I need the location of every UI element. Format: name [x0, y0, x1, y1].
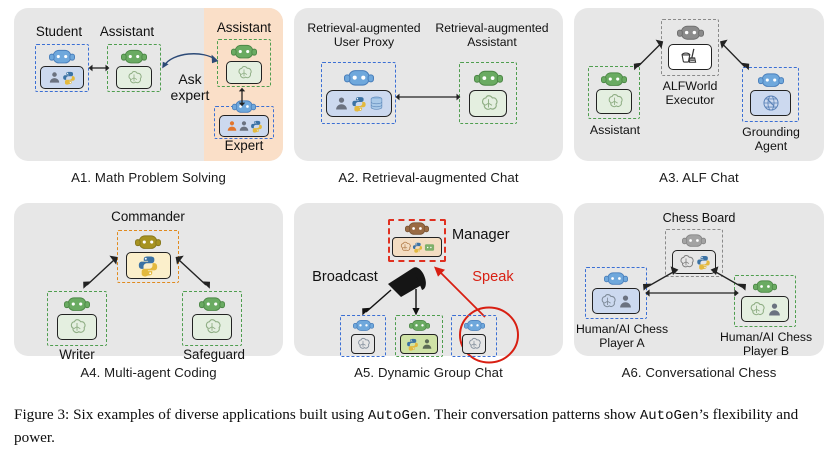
panel-a4: Commander Writer Safeguard A4. Multi-age…: [14, 203, 283, 385]
agent-member-c-selected: [451, 315, 497, 357]
arrow-assistant-executor: [631, 36, 667, 74]
label-alfworld-executor: ALFWorld Executor: [652, 80, 728, 108]
agent-card-player-b: [741, 296, 789, 322]
agent-expert-assistant: [217, 39, 271, 87]
agent-card-manager: [392, 237, 442, 257]
ask-expert-line2: expert: [171, 87, 210, 103]
agent-member-b: [395, 315, 443, 357]
figure-3: Student Assistant Assistant Expert: [0, 0, 837, 459]
agent-card-alf-assistant: [596, 89, 632, 114]
arrow-commander-writer: [80, 253, 122, 293]
caption-prefix: Figure 3:: [14, 406, 69, 423]
agent-card-grounding-agent: [750, 90, 791, 116]
user-proxy-line2: User Proxy: [334, 35, 394, 49]
grounding-line1: Grounding: [742, 125, 800, 139]
agent-player-a: [585, 267, 647, 319]
player-b-line1: Human/AI Chess: [720, 330, 812, 344]
panel-a2: Retrieval-augmented User Proxy Retrieval…: [294, 8, 563, 190]
player-a-line1: Human/AI Chess: [576, 322, 668, 336]
player-b-line2: Player B: [743, 344, 789, 358]
panel-a3-caption: A3. ALF Chat: [574, 170, 824, 185]
assistant-line2: Assistant: [467, 35, 516, 49]
figure-caption: Figure 3: Six examples of diverse applic…: [14, 404, 826, 448]
agent-card-expert-assistant: [226, 61, 262, 84]
agent-card-member-a: [351, 334, 375, 354]
agent-member-a: [340, 315, 386, 357]
arrow-expert-vertical: [236, 87, 248, 107]
label-player-b: Human/AI Chess Player B: [720, 331, 812, 358]
agent-student: [35, 44, 89, 92]
agent-grounding-agent: [742, 67, 799, 122]
executor-line1: ALFWorld: [663, 79, 718, 93]
label-retrieval-user-proxy: Retrieval-augmented User Proxy: [302, 22, 426, 49]
label-alf-assistant: Assistant: [582, 124, 648, 138]
label-writer: Writer: [42, 347, 112, 362]
agent-card-safeguard: [192, 314, 232, 340]
agent-card-assistant: [116, 66, 152, 89]
panel-a4-caption: A4. Multi-agent Coding: [14, 365, 283, 380]
agent-writer: [47, 291, 107, 346]
agent-commander: [117, 230, 179, 283]
caption-part1: Six examples of diverse applications bui…: [69, 406, 368, 423]
panel-a1: Student Assistant Assistant Expert: [14, 8, 283, 190]
label-safeguard: Safeguard: [177, 347, 251, 362]
agent-assistant: [107, 44, 161, 92]
arrow-ask-expert: [160, 46, 222, 72]
player-a-line2: Player A: [599, 336, 644, 350]
callout-ask-expert: Ask expert: [162, 72, 218, 103]
label-commander: Commander: [95, 209, 201, 224]
agent-manager: [388, 216, 446, 262]
label-manager: Manager: [452, 227, 528, 243]
agent-card-retrieval-assistant: [469, 90, 507, 117]
ask-expert-line1: Ask: [178, 71, 201, 87]
agent-card-expert: [219, 115, 269, 137]
caption-autogen-1: AutoGen: [368, 408, 427, 424]
agent-retrieval-user-proxy: [321, 62, 396, 124]
label-student: Student: [28, 24, 90, 39]
agent-card-player-a: [592, 288, 640, 314]
label-player-a: Human/AI Chess Player A: [576, 323, 668, 350]
panel-a6-caption: A6. Conversational Chess: [574, 365, 824, 380]
grounding-line2: Agent: [755, 139, 787, 153]
caption-autogen-2: AutoGen: [640, 408, 699, 424]
agent-card-member-b: [400, 334, 438, 354]
arrow-commander-safeguard: [172, 253, 214, 293]
label-broadcast: Broadcast: [302, 269, 388, 285]
panel-a3: ALFWorld Executor Assistant Grounding Ag…: [574, 8, 824, 190]
user-proxy-line1: Retrieval-augmented: [307, 21, 420, 35]
arrow-student-assistant: [88, 62, 110, 74]
label-assistant: Assistant: [90, 24, 164, 39]
label-chess-board: Chess Board: [647, 211, 751, 225]
agent-safeguard: [182, 291, 242, 346]
panel-a1-caption: A1. Math Problem Solving: [14, 170, 283, 185]
agent-alfworld-executor: [661, 19, 719, 76]
agent-card-retrieval-user-proxy: [326, 90, 392, 117]
arrow-player-a-player-b: [644, 285, 740, 299]
assistant-line1: Retrieval-augmented: [435, 21, 548, 35]
arrow-proxy-assistant: [395, 91, 461, 103]
agent-card-commander: [126, 252, 171, 279]
caption-part2: . Their conversation patterns show: [427, 406, 640, 423]
agent-card-member-c-selected: [462, 334, 486, 354]
agent-card-writer: [57, 314, 97, 340]
agent-card-alfworld-executor: [668, 44, 712, 70]
arrow-executor-grounding: [716, 36, 752, 74]
label-grounding-agent: Grounding Agent: [737, 126, 805, 154]
label-expert: Expert: [210, 138, 278, 153]
panel-a2-caption: A2. Retrieval-augmented Chat: [294, 170, 563, 185]
panel-a5: Manager Broadcast Speak: [294, 203, 563, 385]
executor-line2: Executor: [666, 93, 715, 107]
label-retrieval-assistant: Retrieval-augmented Assistant: [430, 22, 554, 49]
panel-a5-caption: A5. Dynamic Group Chat: [294, 365, 563, 380]
agent-card-student: [40, 66, 84, 89]
agent-retrieval-assistant: [459, 62, 517, 124]
panel-a6: Chess Board Human/AI Chess Player A Huma…: [574, 203, 824, 385]
label-expert-assistant: Assistant: [207, 20, 281, 35]
